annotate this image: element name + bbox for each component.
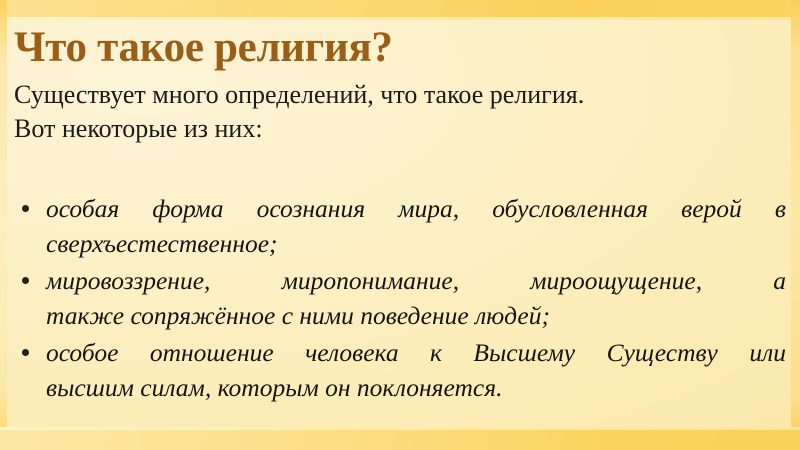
intro-line-2: Вот некоторые из них:: [14, 112, 784, 146]
word: к: [430, 336, 442, 371]
word: мира,: [398, 192, 459, 227]
word: Существу: [607, 336, 718, 371]
word: осознания: [257, 192, 365, 227]
list-item: мировоззрение, миропонимание, мироощущен…: [14, 264, 786, 334]
word: форма: [152, 192, 223, 227]
word: а: [773, 264, 786, 299]
list-item: особая форма осознания мира, обусловленн…: [14, 192, 786, 262]
word: миропонимание,: [282, 264, 460, 299]
presentation-slide: Что такое религия? Существует много опре…: [0, 0, 800, 450]
list-item-line-2: высшим силам, которым он поклоняется.: [46, 371, 786, 406]
list-item: особое отношение человека к Высшему Суще…: [14, 336, 786, 406]
slide-content: Что такое религия? Существует много опре…: [0, 20, 800, 430]
intro-line-1: Существует много определений, что такое …: [14, 78, 784, 112]
word: человека: [305, 336, 398, 371]
word: в: [775, 192, 786, 227]
bottom-border-band: [0, 430, 800, 450]
word: особое: [46, 336, 118, 371]
list-item-line-2: также сопряжённое с ними поведение людей…: [46, 299, 786, 334]
word: верой: [681, 192, 742, 227]
definition-list: особая форма осознания мира, обусловленн…: [14, 192, 786, 408]
word: обусловленная: [492, 192, 648, 227]
bullet-dot-icon: [22, 205, 29, 212]
list-item-line-1: особое отношение человека к Высшему Суще…: [46, 336, 786, 371]
bullet-dot-icon: [22, 277, 29, 284]
word: Высшему: [473, 336, 575, 371]
slide-title: Что такое религия?: [14, 26, 393, 69]
word: или: [749, 336, 786, 371]
word: отношение: [150, 336, 274, 371]
word: особая: [46, 192, 119, 227]
slide-intro-text: Существует много определений, что такое …: [14, 78, 784, 146]
list-item-line-1: мировоззрение, миропонимание, мироощущен…: [46, 264, 786, 299]
word: мировоззрение,: [46, 264, 210, 299]
bullet-dot-icon: [22, 349, 29, 356]
top-border-band: [0, 0, 800, 17]
list-item-line-2: сверхъестественное;: [46, 227, 786, 262]
list-item-line-1: особая форма осознания мира, обусловленн…: [46, 192, 786, 227]
word: мироощущение,: [530, 264, 702, 299]
